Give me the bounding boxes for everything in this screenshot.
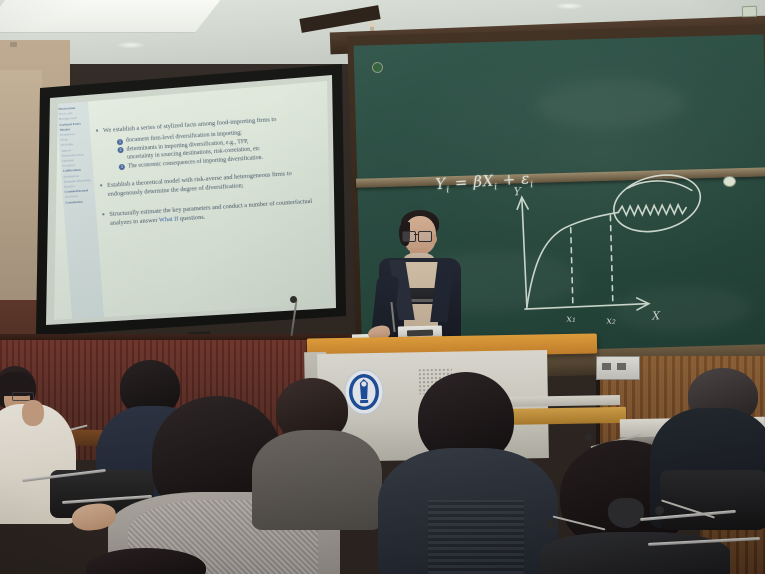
speaker-glasses-icon — [402, 231, 430, 241]
bullet-highlight: What If — [159, 216, 179, 224]
slide-body: We establish a series of stylized facts … — [94, 112, 325, 232]
recessed-ceiling-light — [118, 42, 144, 48]
audience-microphone-head — [547, 519, 556, 528]
board-magnet-icon — [723, 176, 736, 187]
face-mask — [608, 498, 644, 528]
podium-wood-rail — [496, 407, 626, 425]
recessed-ceiling-light — [556, 3, 582, 9]
jacket-texture — [428, 500, 524, 574]
wall-sensor-icon — [10, 42, 17, 47]
podium-shelf — [500, 395, 620, 407]
podium-microphone-head — [290, 296, 297, 303]
enum-badge: 3 — [119, 164, 125, 170]
audience-body — [540, 532, 730, 574]
audience-microphone-head — [585, 434, 592, 441]
board-clip — [742, 6, 757, 18]
university-crest-emblem — [343, 368, 386, 417]
ceiling-light-panel — [0, 0, 223, 33]
audience-microphone-head — [655, 506, 664, 515]
wall-control-box[interactable] — [596, 356, 640, 380]
bullet-text-after: questions. — [178, 214, 205, 223]
enum-badge: 2 — [117, 147, 123, 153]
lecture-hall-photo: Yi = βXi + εi — [0, 0, 765, 574]
audience-hand — [22, 400, 44, 426]
audience-body — [252, 430, 382, 530]
enum-badge: 1 — [117, 138, 123, 144]
projected-slide: MotivationFacts andBackgroundStylized Fa… — [36, 64, 346, 336]
slide-toc: MotivationFacts andBackgroundStylized Fa… — [58, 105, 95, 206]
audience-chair — [660, 470, 765, 530]
